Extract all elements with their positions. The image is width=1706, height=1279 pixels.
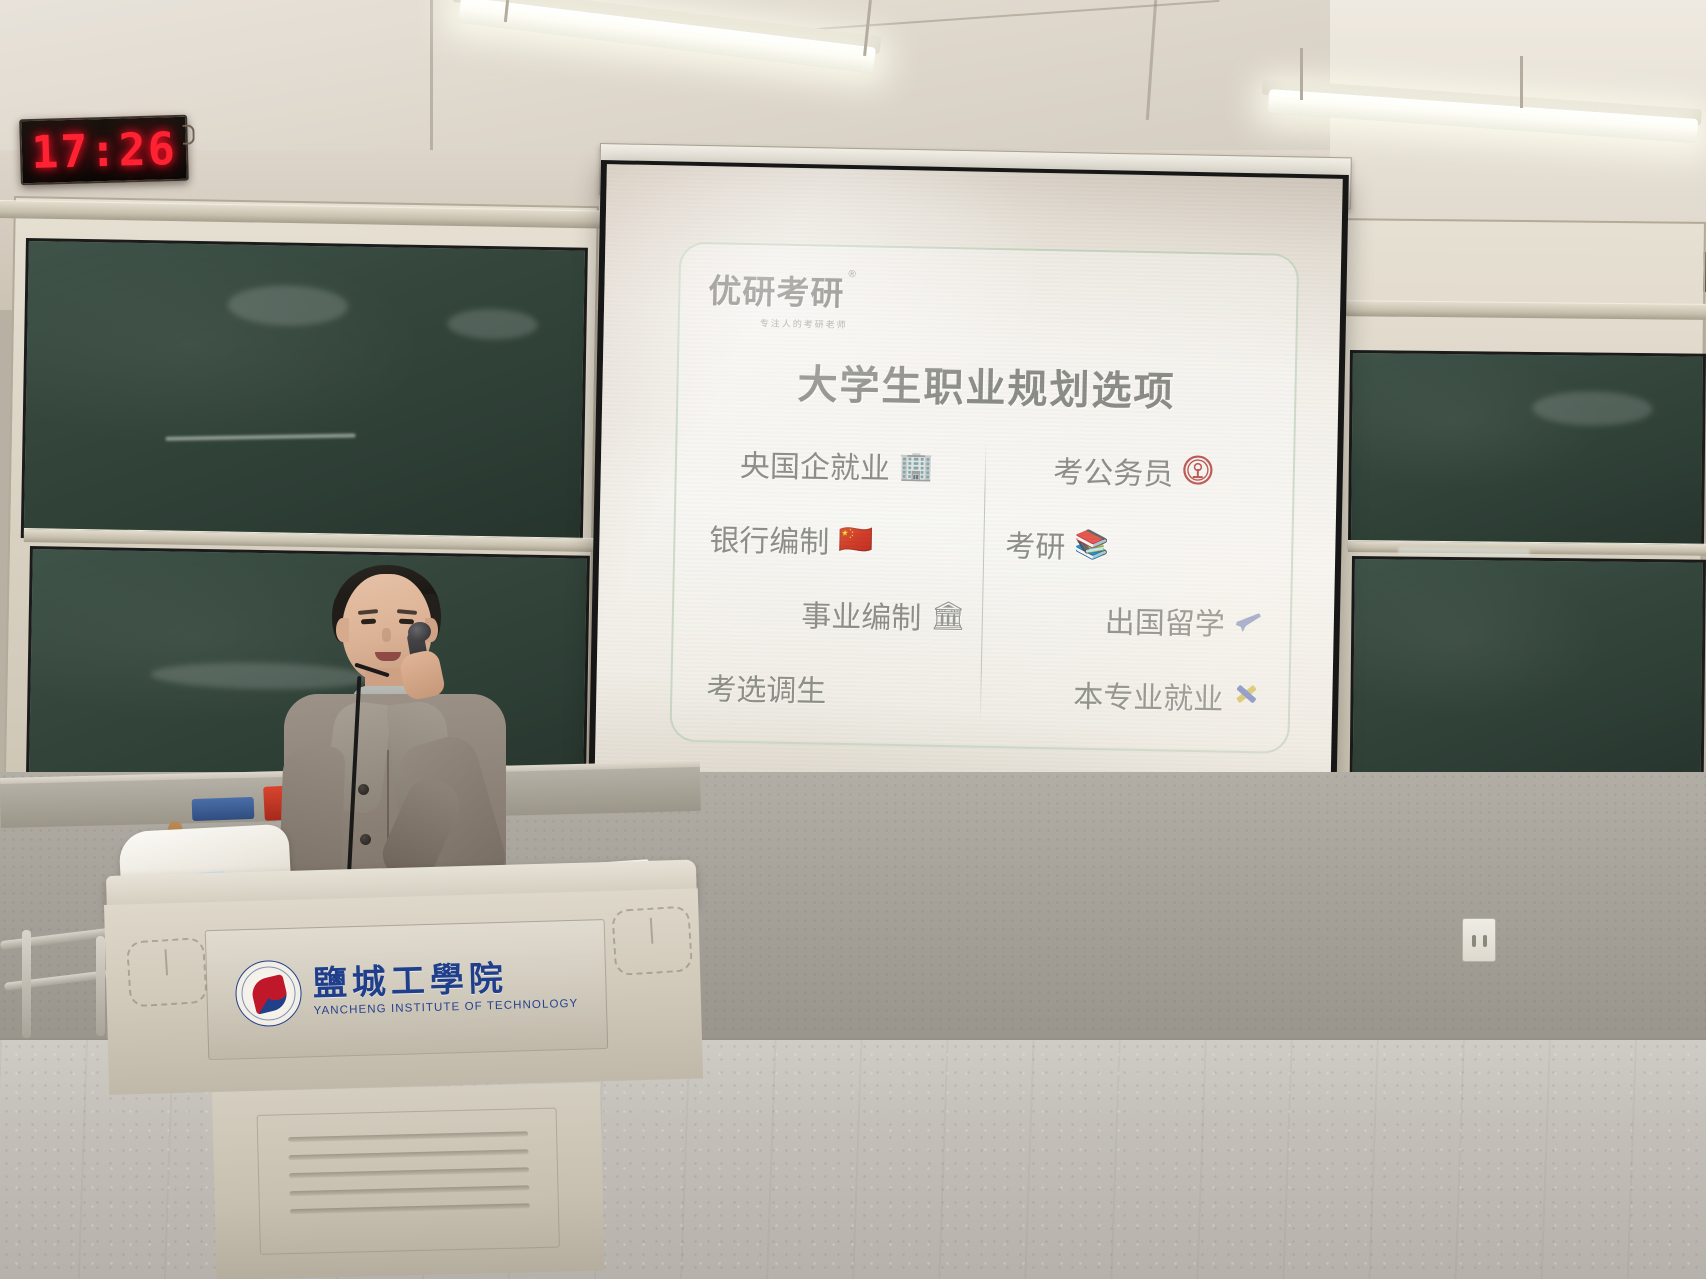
option-item: 事业编制 🏛 <box>686 589 983 639</box>
ear <box>336 618 349 642</box>
brand-logo: 优研考研 ® 专注人的考研老师 <box>708 264 859 327</box>
option-label: 考公务员 <box>1053 447 1174 493</box>
office-building-icon: 🏢 <box>899 452 934 481</box>
national-emblem-icon <box>1182 454 1213 490</box>
option-item: 本专业就业 <box>980 670 1277 720</box>
option-item: 考公务员 <box>984 446 1281 496</box>
podium-decor-mark <box>126 937 208 1008</box>
lecture-hall-scene: 17:26 I 优研考研 ® <box>0 0 1706 1279</box>
projection-screen: 优研考研 ® 专注人的考研老师 大学生职业规划选项 央国企就业 🏢 <box>589 160 1349 795</box>
airplane-icon <box>1234 606 1263 640</box>
podium-name-block: 鹽城工學院 YANCHENG INSTITUTE OF TECHNOLOGY <box>312 959 578 1017</box>
option-item: 银行编制 🇨🇳 <box>687 514 984 564</box>
brand-tagline: 专注人的考研老师 <box>760 316 858 331</box>
coat-button <box>358 784 369 795</box>
option-label: 央国企就业 <box>740 441 891 488</box>
coat-button <box>360 834 371 845</box>
power-outlet <box>1462 918 1496 962</box>
crest-emblem <box>249 974 290 1015</box>
option-label: 事业编制 <box>801 591 922 637</box>
china-flag-icon: 🇨🇳 <box>838 526 873 555</box>
option-label: 银行编制 <box>709 515 830 561</box>
chalkboard-right-upper <box>1348 350 1706 554</box>
clock-time-display: 17:26 <box>31 121 178 178</box>
brand-name: 优研考研 <box>708 271 845 313</box>
projection-screen-surface: 优研考研 ® 专注人的考研老师 大学生职业规划选项 央国企就业 🏢 <box>595 164 1343 785</box>
option-item: 考研 📚 <box>983 520 1280 570</box>
option-label: 考选调生 <box>706 664 827 710</box>
podium-front: 鹽城工學院 YANCHENG INSTITUTE OF TECHNOLOGY <box>104 888 703 1095</box>
light-rod <box>1300 48 1303 100</box>
presentation-slide: 优研考研 ® 专注人的考研老师 大学生职业规划选项 央国企就业 🏢 <box>669 242 1299 754</box>
slide-title: 大学生职业规划选项 <box>676 350 1297 420</box>
nose <box>382 628 391 642</box>
registered-mark-icon: ® <box>848 269 856 280</box>
option-item: 央国企就业 🏢 <box>689 440 986 490</box>
option-label: 出国留学 <box>1104 598 1225 644</box>
chalkboard-right-lower <box>1350 556 1706 792</box>
shelf-object-blue <box>192 797 255 821</box>
option-item: 考选调生 <box>684 664 981 714</box>
classical-building-icon: 🏛 <box>930 602 966 631</box>
ceiling-seam <box>430 0 433 150</box>
option-item: 出国留学 <box>981 595 1278 645</box>
podium-logo-group: 鹽城工學院 YANCHENG INSTITUTE OF TECHNOLOGY <box>206 920 607 1059</box>
crossed-tools-icon <box>1232 680 1261 714</box>
option-column-right: 考公务员 <box>980 438 1282 734</box>
option-label: 考研 <box>1005 521 1066 566</box>
clock-mount-bracket <box>182 124 195 144</box>
eye <box>361 619 376 625</box>
light-rod <box>1520 56 1523 108</box>
books-icon: 📚 <box>1074 530 1109 559</box>
chalkboard-left-upper <box>21 238 588 548</box>
podium-logo-panel: 鹽城工學院 YANCHENG INSTITUTE OF TECHNOLOGY <box>205 919 608 1060</box>
option-column-left: 央国企就业 🏢 银行编制 🇨🇳 事业编制 🏛 考选调生 <box>684 432 986 728</box>
podium-vent-panel <box>257 1108 560 1255</box>
university-crest-icon <box>234 960 302 1028</box>
slide-option-columns: 央国企就业 🏢 银行编制 🇨🇳 事业编制 🏛 考选调生 <box>684 432 1282 734</box>
podium-decor-mark <box>611 905 693 976</box>
stage-railing <box>0 930 118 1048</box>
digital-wall-clock: 17:26 <box>19 115 189 186</box>
institution-name-cn: 鹽城工學院 <box>312 959 578 1002</box>
option-label: 本专业就业 <box>1073 672 1224 719</box>
podium-base <box>212 1083 604 1279</box>
